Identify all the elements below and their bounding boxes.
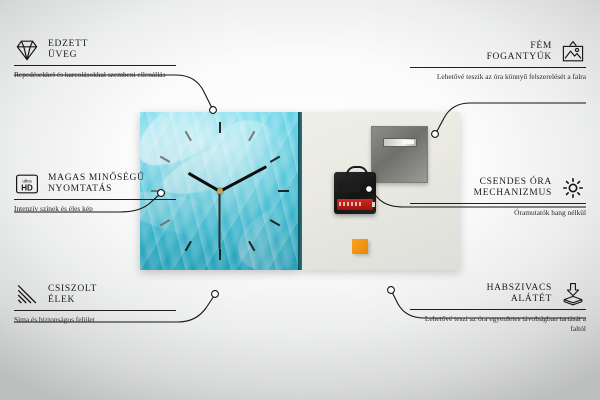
polished-edges-icon	[14, 283, 40, 307]
callout-metal-handles: FÉM FOGANTYÚK Lehetővé teszik az óra kön…	[410, 40, 586, 82]
movement-body	[338, 181, 360, 192]
clock-tick	[278, 190, 289, 192]
callout-title-line1: FÉM	[410, 41, 552, 53]
battery-label	[339, 202, 363, 206]
movement-loop	[346, 166, 368, 177]
foam-pad-icon	[560, 282, 586, 306]
infographic-canvas: EDZETT ÜVEG Repedésekkel és karcolásokka…	[0, 0, 600, 400]
clock-tick	[219, 249, 221, 260]
callout-header: CSENDES ÓRA MECHANIZMUS	[410, 176, 586, 200]
clock-tick	[270, 219, 281, 226]
gear-icon	[560, 176, 586, 200]
callout-title-line2: MECHANIZMUS	[410, 188, 552, 200]
clock-minute-hand	[219, 165, 266, 192]
callout-divider	[14, 310, 176, 311]
svg-text:HD: HD	[21, 183, 33, 192]
callout-title-line1: MAGAS MINŐSÉGŰ	[48, 173, 145, 185]
quartz-movement	[334, 172, 376, 214]
callout-title-line2: FOGANTYÚK	[410, 52, 552, 64]
callout-divider	[14, 65, 176, 66]
callout-silent-mechanism: CSENDES ÓRA MECHANIZMUS Óramutatók hang …	[410, 176, 586, 218]
callout-title-line2: NYOMTATÁS	[48, 184, 145, 196]
callout-polished-edges: CSISZOLT ÉLEK Sima és biztonságos felüle…	[14, 283, 176, 325]
clock-hour-hand	[188, 172, 221, 193]
clock-tick	[185, 131, 192, 142]
callout-title-line1: CSENDES ÓRA	[410, 177, 552, 189]
picture-hanger-icon	[560, 40, 586, 64]
battery	[337, 199, 373, 210]
callout-divider	[410, 309, 586, 310]
callout-title-line1: HABSZIVACS	[410, 283, 552, 295]
callout-description: Sima és biztonságos felület	[14, 315, 176, 325]
callout-high-quality-print: ultra HD MAGAS MINŐSÉGŰ NYOMTATÁS Intenz…	[14, 172, 176, 214]
callout-header: ultra HD MAGAS MINŐSÉGŰ NYOMTATÁS	[14, 172, 176, 196]
foam-pad	[352, 239, 368, 254]
diamond-icon	[14, 38, 40, 62]
callout-title-line1: CSISZOLT	[48, 284, 97, 296]
callout-divider	[410, 203, 586, 204]
callout-description: Óramutatók hang nélkül	[410, 208, 586, 218]
callout-description: Intenzív színek és éles kép	[14, 204, 176, 214]
callout-header: HABSZIVACS ALÁTÉT	[410, 282, 586, 306]
clock-tick	[160, 156, 171, 163]
callout-description: Lehetővé teszi az óra egyenletes távolsá…	[410, 314, 586, 333]
clock-center-cap	[217, 188, 223, 194]
clock-tick	[248, 241, 255, 252]
callout-foam-pad: HABSZIVACS ALÁTÉT Lehetővé teszi az óra …	[410, 282, 586, 333]
callout-title-line2: ALÁTÉT	[410, 294, 552, 306]
callout-header: EDZETT ÜVEG	[14, 38, 176, 62]
callout-divider	[410, 67, 586, 68]
clock-tick	[219, 122, 221, 133]
callout-header: CSISZOLT ÉLEK	[14, 283, 176, 307]
clock-tick	[185, 241, 192, 252]
clock-tick	[270, 156, 281, 163]
callout-title-line2: ÜVEG	[48, 50, 88, 62]
callout-description: Repedésekkel és karcolásokkal szembeni e…	[14, 70, 176, 80]
callout-description: Lehetővé teszik az óra könnyű felszerelé…	[410, 72, 586, 82]
clock-tick	[248, 131, 255, 142]
callout-divider	[14, 199, 176, 200]
clock-tick	[160, 219, 171, 226]
callout-title-line1: EDZETT	[48, 39, 88, 51]
callout-title-line2: ÉLEK	[48, 295, 97, 307]
ultra-hd-icon: ultra HD	[14, 172, 40, 196]
clock-second-hand	[219, 191, 221, 249]
hanger-slot	[383, 138, 417, 147]
metal-hanger-plate	[371, 126, 428, 183]
callout-header: FÉM FOGANTYÚK	[410, 40, 586, 64]
callout-tempered-glass: EDZETT ÜVEG Repedésekkel és karcolásokka…	[14, 38, 176, 80]
